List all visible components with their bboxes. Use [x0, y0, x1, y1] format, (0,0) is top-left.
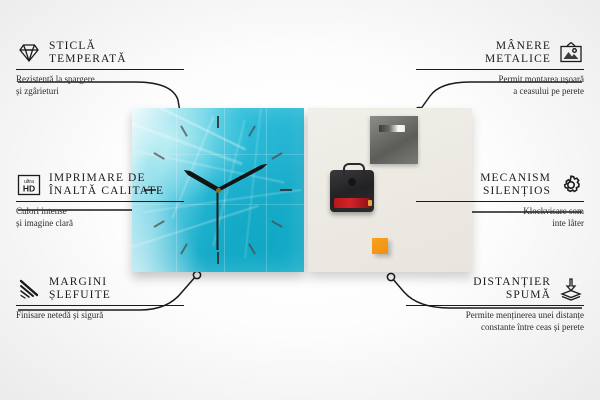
callout-subtitle: Rezistentă la spargere și zgârieturi: [16, 74, 184, 97]
callout-silent-mechanism: MECANISM SILENȚIOS Klockvisare som inte …: [416, 172, 584, 229]
metal-hanger-plate: [370, 116, 418, 164]
clock-hub: [216, 188, 221, 193]
callout-subtitle: Klockvisare som inte låter: [416, 206, 584, 229]
callout-rule: [416, 69, 584, 70]
callout-subtitle: Culori intense și imagine clară: [16, 206, 184, 229]
diamond-icon: [16, 41, 42, 65]
mechanism-shaft: [348, 178, 356, 186]
ultra-hd-icon: ultra HD: [16, 173, 42, 197]
callout-rule: [16, 69, 184, 70]
gear-icon: [558, 173, 584, 197]
callout-title: MÂNERE METALICE: [485, 40, 551, 66]
infographic-canvas: STICLĂ TEMPERATĂ Rezistentă la spargere …: [0, 0, 600, 400]
callout-title: MARGINI ȘLEFUITE: [49, 276, 111, 302]
battery: [334, 198, 370, 208]
callout-subtitle: Permit montarea ușoară a ceasului pe per…: [416, 74, 584, 97]
picture-frame-icon: [558, 41, 584, 65]
callout-rule: [406, 305, 584, 306]
callout-title: IMPRIMARE DE ÎNALTĂ CALITATE: [49, 172, 164, 198]
mechanism-hook: [343, 163, 365, 175]
callout-title: DISTANȚIER SPUMĂ: [473, 276, 551, 302]
hanger-slot: [379, 125, 405, 132]
callout-title: MECANISM SILENȚIOS: [480, 172, 551, 198]
callout-rule: [416, 201, 584, 202]
callout-subtitle: Permite menținerea unei distanțe constan…: [406, 310, 584, 333]
callout-foam-spacer: DISTANȚIER SPUMĂ Permite menținerea unei…: [406, 276, 584, 333]
callout-rule: [16, 201, 184, 202]
callout-metal-handles: MÂNERE METALICE Permit montarea ușoară a…: [416, 40, 584, 97]
svg-text:HD: HD: [23, 184, 35, 194]
callout-polished-edges: MARGINI ȘLEFUITE Finisare netedă și sigu…: [16, 276, 184, 322]
callout-subtitle: Finisare netedă și sigură: [16, 310, 184, 322]
callout-print-quality: ultra HD IMPRIMARE DE ÎNALTĂ CALITATE Cu…: [16, 172, 184, 229]
callout-tempered-glass: STICLĂ TEMPERATĂ Rezistentă la spargere …: [16, 40, 184, 97]
foam-spacer: [372, 238, 388, 254]
callout-title: STICLĂ TEMPERATĂ: [49, 40, 127, 66]
polished-edges-icon: [16, 277, 42, 301]
callout-rule: [16, 305, 184, 306]
spacer-arrow-icon: [558, 277, 584, 301]
quartz-mechanism: [330, 170, 374, 212]
